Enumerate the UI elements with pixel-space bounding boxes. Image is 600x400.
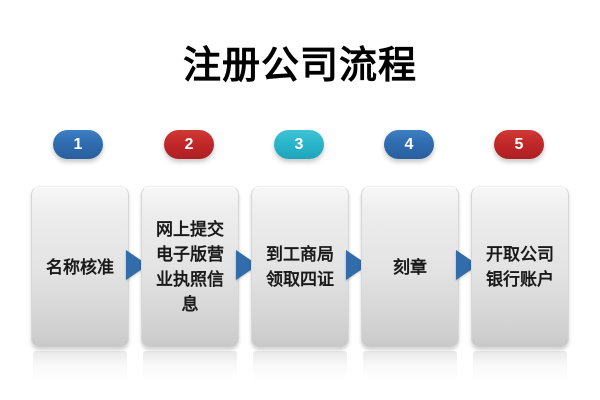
box-reflection-4 [363, 351, 457, 381]
step-badge-2: 2 [164, 130, 214, 159]
process-flow-diagram: 注册公司流程 1 名称核准 2 网上提交电子版营业执照信息 3 到工商局领取四证… [0, 0, 600, 400]
box-reflection-5 [473, 351, 567, 381]
process-box-5[interactable]: 开取公司银行账户 [471, 186, 569, 348]
step-badge-1: 1 [53, 130, 103, 159]
step-badge-4: 4 [384, 130, 434, 159]
process-box-4[interactable]: 刻章 [361, 186, 459, 348]
box-reflection-2 [143, 351, 237, 381]
step-number-5: 5 [515, 137, 524, 153]
step-number-2: 2 [185, 137, 194, 153]
process-box-2[interactable]: 网上提交电子版营业执照信息 [141, 186, 239, 348]
box-reflection-1 [33, 351, 127, 381]
process-box-label-1: 名称核准 [37, 255, 123, 280]
page-title: 注册公司流程 [0, 43, 600, 89]
step-badge-5: 5 [494, 130, 544, 159]
step-number-3: 3 [295, 137, 304, 153]
step-badge-3: 3 [274, 130, 324, 159]
process-box-label-4: 刻章 [384, 255, 436, 280]
process-box-label-2: 网上提交电子版营业执照信息 [142, 217, 238, 317]
step-number-4: 4 [405, 137, 414, 153]
step-number-1: 1 [74, 137, 83, 153]
process-box-label-3: 到工商局领取四证 [252, 242, 348, 292]
process-box-1[interactable]: 名称核准 [31, 186, 129, 348]
box-reflection-3 [253, 351, 347, 381]
process-box-3[interactable]: 到工商局领取四证 [251, 186, 349, 348]
process-box-label-5: 开取公司银行账户 [472, 242, 568, 292]
